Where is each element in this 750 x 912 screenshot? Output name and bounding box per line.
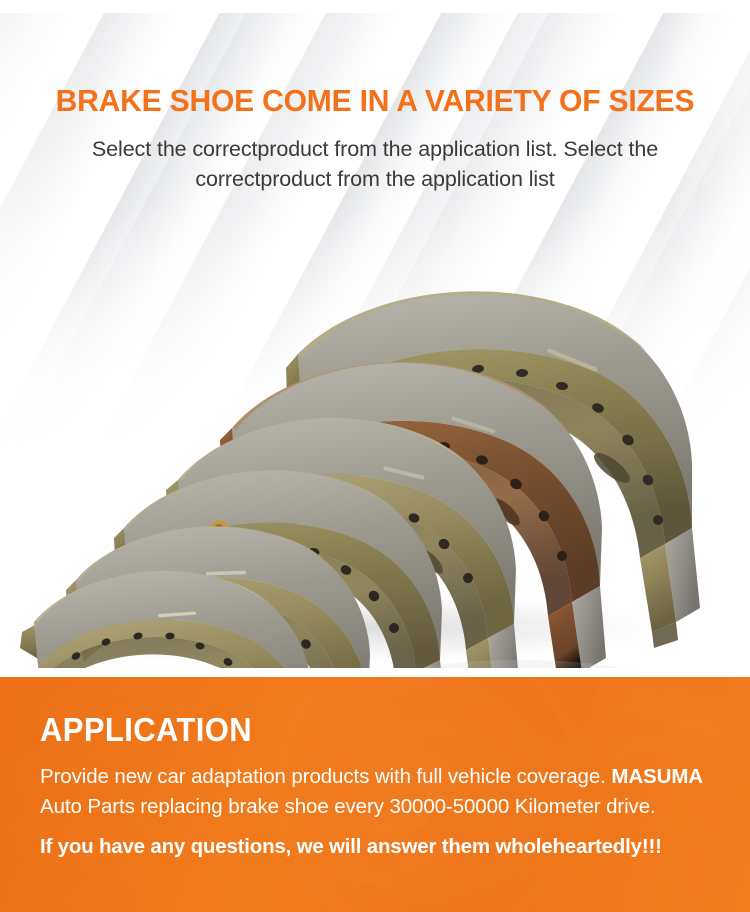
brand-name-masuma: MASUMA [611, 765, 703, 788]
hero-text-block: BRAKE SHOE COME IN A VARIETY OF SIZES Se… [0, 0, 750, 195]
application-heading: APPLICATION [40, 677, 707, 746]
brake-shoes-illustration [0, 228, 750, 668]
page-title: BRAKE SHOE COME IN A VARIETY OF SIZES [6, 0, 745, 117]
application-cta-text: If you have any questions, we will answe… [40, 822, 750, 860]
page-subtitle: Select the correctproduct from the appli… [45, 117, 705, 195]
application-body-line-2-rest: Auto Parts replacing brake shoe every 30… [40, 795, 509, 818]
application-body-line-1: Provide new car adaptation products with… [40, 765, 606, 788]
application-body-text: Provide new car adaptation products with… [40, 746, 730, 822]
product-banner-page: BRAKE SHOE COME IN A VARIETY OF SIZES Se… [0, 0, 750, 912]
product-photo-brake-shoes [0, 228, 750, 668]
application-content: APPLICATION Provide new car adaptation p… [0, 677, 750, 912]
application-body-line-3: Kilometer drive. [515, 795, 656, 818]
hero-section: BRAKE SHOE COME IN A VARIETY OF SIZES Se… [0, 0, 750, 677]
application-section: APPLICATION Provide new car adaptation p… [0, 677, 750, 912]
